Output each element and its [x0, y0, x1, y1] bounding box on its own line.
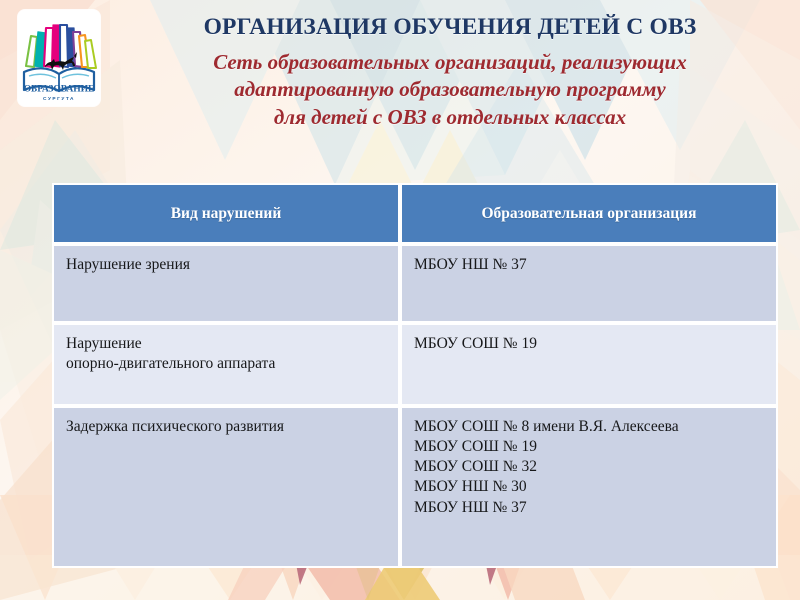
violation-line: Нарушение	[66, 334, 388, 354]
cell-violation-type: Нарушение опорно-двигательного аппарата	[52, 323, 400, 406]
table-header-row: Вид нарушений Образовательная организаци…	[52, 183, 778, 244]
cell-violation-type: Нарушение зрения	[52, 244, 400, 323]
organizations-table: Вид нарушений Образовательная организаци…	[52, 183, 778, 568]
slide: ОБРАЗОВАНИЕ СУРГУТА ОРГАНИЗАЦИЯ ОБУЧЕНИЯ…	[0, 0, 800, 600]
table-row: Нарушение зрения МБОУ НШ № 37	[52, 244, 778, 323]
column-header-organization: Образовательная организация	[400, 183, 778, 244]
violation-line: опорно-двигательного аппарата	[66, 354, 388, 374]
organization-line: МБОУ НШ № 37	[414, 255, 766, 275]
organization-line: МБОУ СОШ № 8 имени В.Я. Алексеева	[414, 417, 766, 437]
logo-primary-text: ОБРАЗОВАНИЕ	[24, 84, 95, 95]
organization-line: МБОУ НШ № 37	[414, 498, 766, 518]
table-row: Нарушение опорно-двигательного аппарата …	[52, 323, 778, 406]
cell-violation-type: Задержка психического развития	[52, 406, 400, 568]
title-block: ОРГАНИЗАЦИЯ ОБУЧЕНИЯ ДЕТЕЙ С ОВЗ Сеть об…	[110, 14, 790, 131]
organization-line: МБОУ СОШ № 32	[414, 457, 766, 477]
page-subtitle: Сеть образовательных организаций, реализ…	[110, 49, 790, 131]
cell-organization: МБОУ СОШ № 19	[400, 323, 778, 406]
subtitle-line-3: для детей с ОВЗ в отдельных классах	[110, 104, 790, 131]
violation-line: Нарушение зрения	[66, 255, 388, 275]
page-title: ОРГАНИЗАЦИЯ ОБУЧЕНИЯ ДЕТЕЙ С ОВЗ	[110, 14, 790, 41]
subtitle-line-1: Сеть образовательных организаций, реализ…	[110, 49, 790, 76]
column-header-violation-type: Вид нарушений	[52, 183, 400, 244]
subtitle-line-2: адаптированную образовательную программу	[110, 76, 790, 103]
cell-organization: МБОУ НШ № 37	[400, 244, 778, 323]
logo: ОБРАЗОВАНИЕ СУРГУТА	[18, 10, 100, 106]
cell-organization: МБОУ СОШ № 8 имени В.Я. Алексеева МБОУ С…	[400, 406, 778, 568]
logo-secondary-text: СУРГУТА	[43, 96, 75, 102]
organization-line: МБОУ СОШ № 19	[414, 437, 766, 457]
violation-line: Задержка психического развития	[66, 417, 388, 437]
organization-line: МБОУ НШ № 30	[414, 477, 766, 497]
organization-line: МБОУ СОШ № 19	[414, 334, 766, 354]
table-row: Задержка психического развития МБОУ СОШ …	[52, 406, 778, 568]
